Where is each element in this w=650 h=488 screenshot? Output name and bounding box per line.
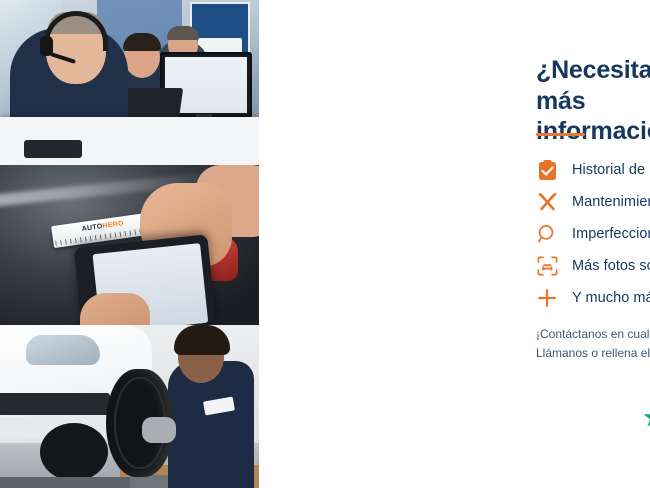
ruler-brand-text: AUTO	[81, 223, 103, 233]
feature-item-imperfecciones[interactable]: Imperfecciones	[536, 218, 650, 250]
ruler-brand: AUTOHERO	[81, 220, 124, 233]
feature-item-mantenimiento[interactable]: Mantenimiento realizado	[536, 186, 650, 218]
feature-label: Mantenimiento realizado	[572, 194, 650, 210]
feature-label: Historial de mantenimientos	[572, 162, 650, 178]
paragraph-line-2: Llámanos o rellena el formulario de cont…	[536, 344, 650, 363]
magnifier-icon	[536, 223, 558, 245]
mechanic-glove	[142, 417, 176, 443]
content-panel: ¿Necesitas más información? Estamos enca…	[259, 0, 650, 488]
feature-label: Más fotos sobre el coche	[572, 258, 650, 274]
wrench-screwdriver-icon	[536, 191, 558, 213]
feature-item-historial[interactable]: Historial de mantenimientos	[536, 154, 650, 186]
wheel-well	[40, 423, 108, 481]
photo-column: AUTOHERO	[0, 0, 259, 488]
mechanic-hair	[174, 325, 230, 355]
feature-list: Historial de mantenimientos Mantenimient…	[536, 154, 650, 314]
page-title-line2: más información?	[536, 87, 650, 146]
paragraph-line-1: ¡Contáctanos en cualquier momento para m…	[536, 325, 650, 344]
title-divider	[536, 133, 585, 136]
contact-paragraph: ¡Contáctanos en cualquier momento para m…	[536, 325, 650, 364]
feature-label: Imperfecciones	[572, 226, 650, 242]
car-grill	[0, 393, 110, 415]
plus-icon	[536, 287, 558, 309]
clipboard-check-icon	[536, 159, 558, 181]
feature-item-fotos[interactable]: Más fotos sobre el coche	[536, 250, 650, 282]
inspection-photo: AUTOHERO	[0, 165, 259, 325]
page-title-line1: ¿Necesitas	[536, 56, 650, 84]
ruler-brand-accent: HERO	[102, 220, 124, 230]
headlight	[26, 335, 100, 365]
trustpilot-widget[interactable]: Trustpilot Excelente EMPRESA VERIFICADA	[642, 396, 650, 450]
workshop-photo	[0, 325, 259, 488]
feature-label: Y mucho más	[572, 290, 650, 306]
inspector-hand-lower	[80, 293, 150, 325]
car-focus-icon	[536, 255, 558, 277]
agent-back-hair	[167, 26, 199, 40]
trustpilot-star-icon	[642, 405, 650, 430]
info-promo-card: AUTOHERO ¿Ne	[0, 0, 650, 488]
call-center-photo	[0, 0, 259, 165]
desk-tablet	[24, 140, 82, 158]
feature-item-mas[interactable]: Y mucho más	[536, 282, 650, 314]
agent-middle-hair	[123, 33, 161, 51]
trustpilot-logo: Trustpilot	[642, 404, 650, 430]
car-lift	[0, 477, 130, 488]
